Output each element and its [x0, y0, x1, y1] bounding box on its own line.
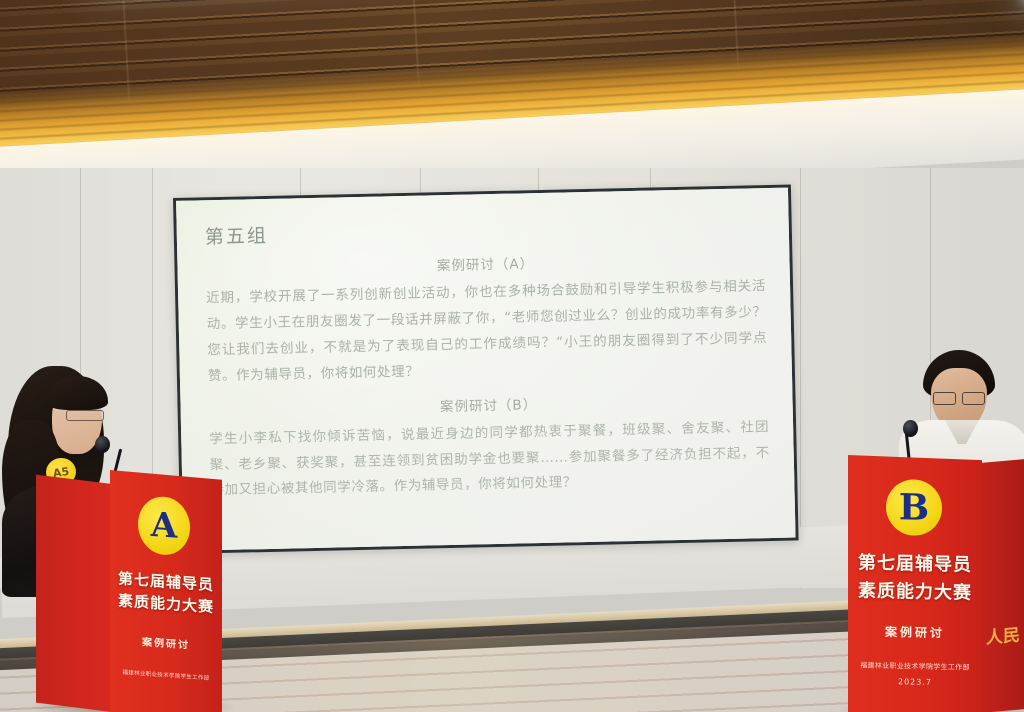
projection-screen[interactable]: 第五组 案例研讨（A） 近期，学校开展了一系列创新创业活动，你也在多种场合鼓励和… — [173, 185, 799, 554]
podium-a[interactable]: A 第七届辅导员 素质能力大赛 案例研讨 福建林业职业技术学院学生工作部 人民 — [36, 470, 222, 712]
slide-content: 第五组 案例研讨（A） 近期，学校开展了一系列创新创业活动，你也在多种场合鼓励和… — [176, 188, 795, 551]
podium-b-letter-badge: B — [886, 479, 942, 536]
podium-b-side-panel: 人民 — [980, 459, 1024, 712]
podium-a-organization: 福建林业职业技术学院学生工作部 — [110, 667, 222, 683]
podium-b-front-panel: B 第七届辅导员 素质能力大赛 案例研讨 福建林业职业技术学院学生工作部 202… — [848, 455, 982, 712]
case-b-heading: 案例研讨（B） — [208, 388, 768, 420]
podium-b-line1: 第七届辅导员 — [848, 548, 982, 577]
wall-panel-seam — [800, 168, 801, 588]
podium-a-letter: A — [151, 505, 177, 547]
podium-b-subtitle: 案例研讨 — [848, 622, 982, 642]
slide-group-title: 第五组 — [205, 210, 765, 249]
stage-scene: 第五组 案例研讨（A） 近期，学校开展了一系列创新创业活动，你也在多种场合鼓励和… — [0, 0, 1024, 712]
glasses-icon — [933, 392, 985, 403]
podium-a-side-panel — [36, 475, 112, 712]
case-b-body: 学生小李私下找你倾诉苦恼，说最近身边的同学都热衷于聚餐，班级聚、舍友聚、社团聚、… — [209, 415, 771, 505]
screen-frame: 第五组 案例研讨（A） 近期，学校开展了一系列创新创业活动，你也在多种场合鼓励和… — [173, 185, 799, 554]
podium-b-line2: 素质能力大赛 — [848, 576, 982, 605]
glasses-lens-left — [933, 392, 956, 405]
podium-b-emblem: 人民 — [986, 628, 1020, 649]
glasses-lens-right — [962, 392, 985, 405]
podium-b-letter: B — [899, 486, 929, 529]
case-a-heading: 案例研讨（A） — [205, 247, 765, 279]
case-a-body: 近期，学校开展了一系列创新创业活动，你也在多种场合鼓励和引导学生积极参与相关活动… — [206, 274, 768, 390]
glasses-icon — [66, 410, 104, 421]
podium-a-front-panel: A 第七届辅导员 素质能力大赛 案例研讨 福建林业职业技术学院学生工作部 人民 — [110, 470, 222, 712]
podium-a-letter-badge: A — [138, 495, 190, 557]
podium-b-date: 2023.7 — [848, 676, 982, 688]
microphone-left-head — [95, 436, 110, 453]
podium-b-organization: 福建林业职业技术学院学生工作部 — [848, 660, 982, 673]
podium-b[interactable]: 人民 B 第七届辅导员 素质能力大赛 案例研讨 福建林业职业技术学院学生工作部 … — [842, 455, 1024, 712]
podium-a-subtitle: 案例研讨 — [110, 631, 222, 654]
microphone-right-head — [903, 420, 918, 437]
